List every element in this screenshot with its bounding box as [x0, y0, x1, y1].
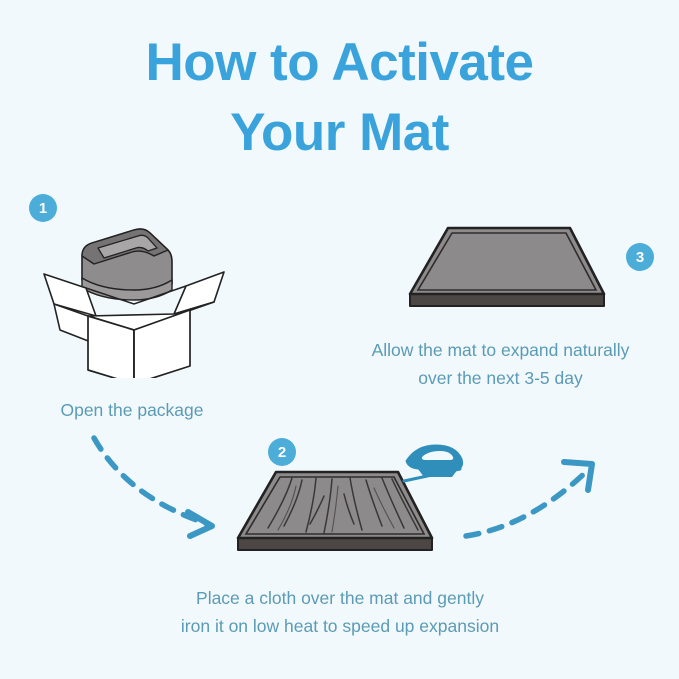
step-3-caption-line-2: over the next 3-5 day	[322, 364, 679, 392]
cardboard-box-illustration	[38, 218, 228, 378]
step-3-caption: Allow the mat to expand naturally over t…	[322, 336, 679, 393]
step-2-caption-line-1: Place a cloth over the mat and gently	[100, 584, 580, 612]
curved-dashed-arrow-down-right-icon	[80, 420, 240, 550]
title-line-2: Your Mat	[0, 98, 679, 168]
step-badge-2: 2	[268, 438, 296, 466]
flat-mat-illustration	[404, 222, 610, 318]
step-2-caption-line-2: iron it on low heat to speed up expansio…	[100, 612, 580, 640]
curved-dashed-arrow-up-right-icon	[452, 440, 612, 550]
title-line-1: How to Activate	[0, 28, 679, 98]
infographic-canvas: How to Activate Your Mat 1 Open the pack…	[0, 0, 679, 679]
step-2-caption: Place a cloth over the mat and gently ir…	[100, 584, 580, 641]
step-3-caption-line-1: Allow the mat to expand naturally	[322, 336, 679, 364]
step-badge-3: 3	[626, 243, 654, 271]
page-title: How to Activate Your Mat	[0, 28, 679, 168]
